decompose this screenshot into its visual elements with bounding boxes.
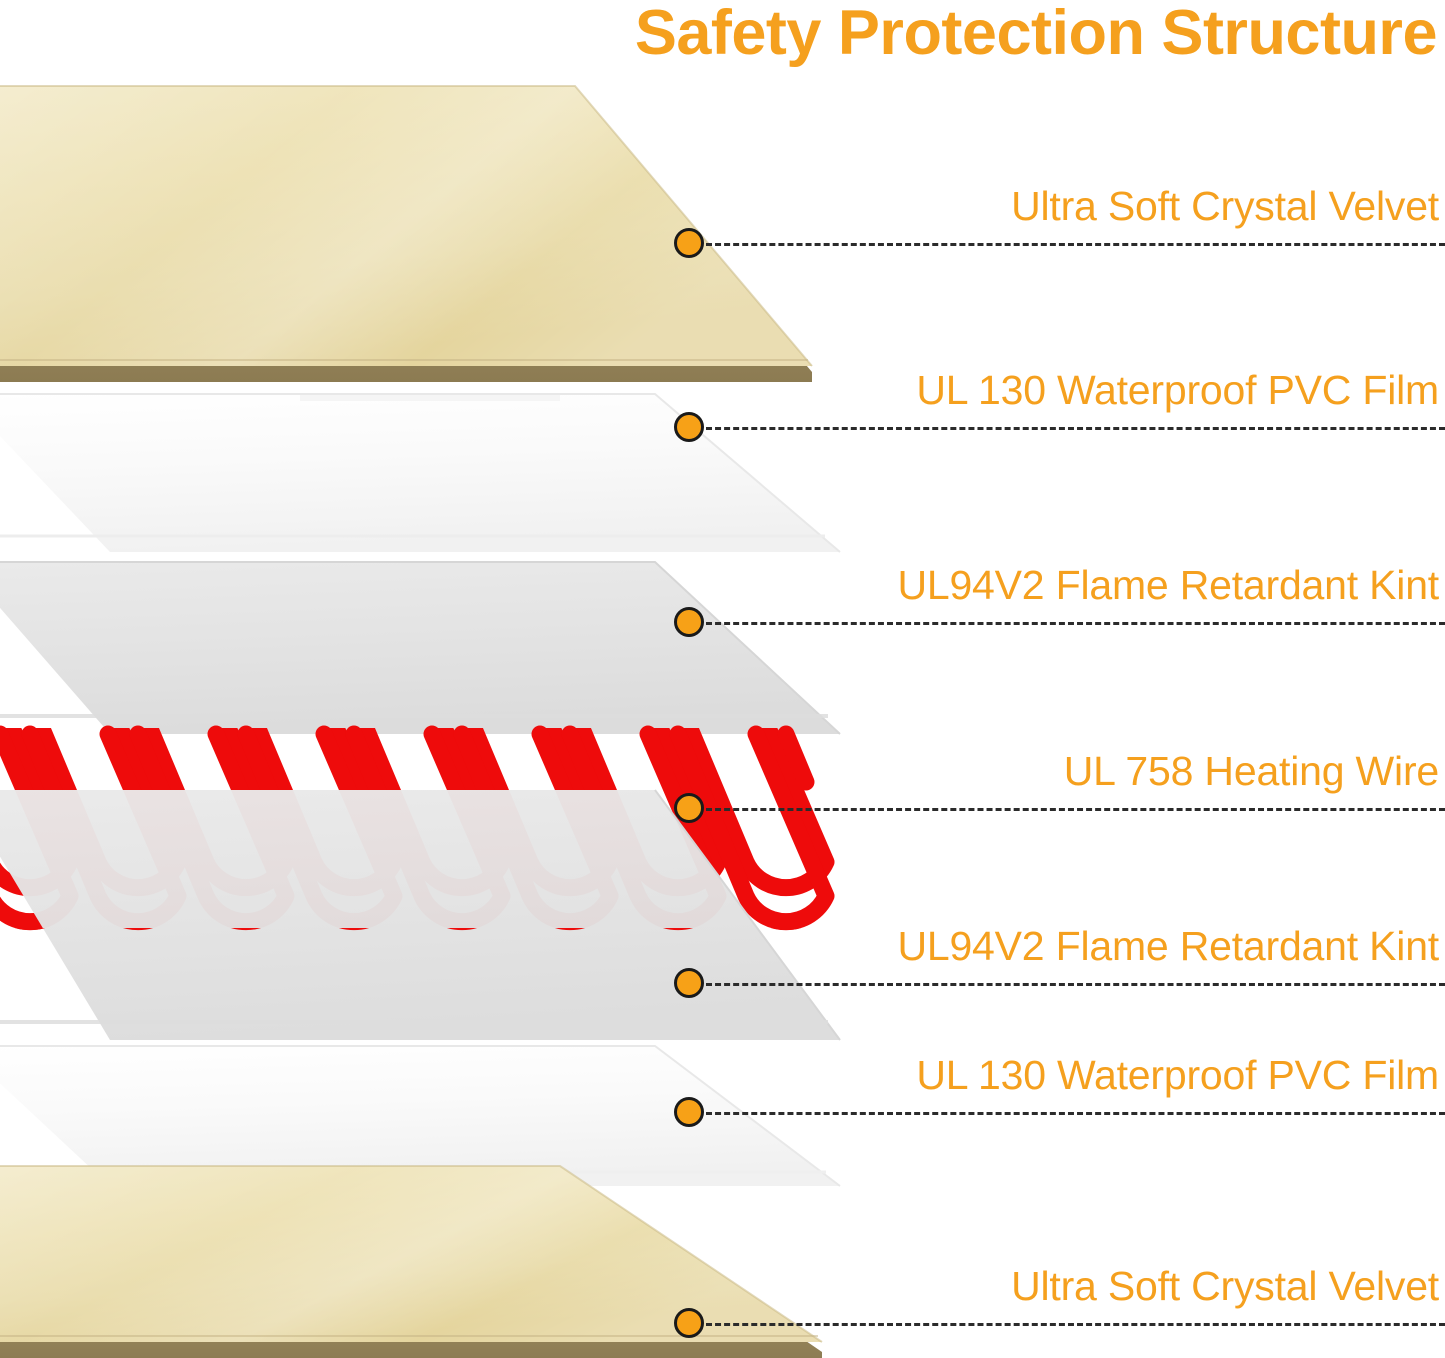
- dashed-leader-line: [706, 1112, 1445, 1115]
- orange-dot-marker: [674, 793, 704, 823]
- callout-label-pvc-top: UL 130 Waterproof PVC Film: [916, 370, 1439, 411]
- dashed-leader-line: [706, 808, 1445, 811]
- dashed-leader-line: [706, 1323, 1445, 1326]
- callout-label-velvet-top: Ultra Soft Crystal Velvet: [1011, 186, 1439, 227]
- callout-label-pvc-bottom: UL 130 Waterproof PVC Film: [916, 1055, 1439, 1096]
- dashed-leader-line: [706, 427, 1445, 430]
- orange-dot-marker: [674, 228, 704, 258]
- callout-label-velvet-bottom: Ultra Soft Crystal Velvet: [1011, 1266, 1439, 1307]
- callout-label-knit-top: UL94V2 Flame Retardant Kint: [897, 565, 1439, 606]
- pvc-film-top: [0, 394, 840, 552]
- infographic-canvas: Safety Protection Structure Ultra Soft C…: [0, 0, 1445, 1358]
- callout-label-heating-wire: UL 758 Heating Wire: [1064, 751, 1439, 792]
- knit-layer-top: [0, 562, 840, 734]
- page-title: Safety Protection Structure: [0, 0, 1445, 69]
- callout-label-knit-bottom: UL94V2 Flame Retardant Kint: [897, 926, 1439, 967]
- orange-dot-marker: [674, 1308, 704, 1338]
- dashed-leader-line: [706, 243, 1445, 246]
- dashed-leader-line: [706, 622, 1445, 625]
- dashed-leader-line: [706, 983, 1445, 986]
- orange-dot-marker: [674, 412, 704, 442]
- orange-dot-marker: [674, 607, 704, 637]
- orange-dot-marker: [674, 968, 704, 998]
- orange-dot-marker: [674, 1097, 704, 1127]
